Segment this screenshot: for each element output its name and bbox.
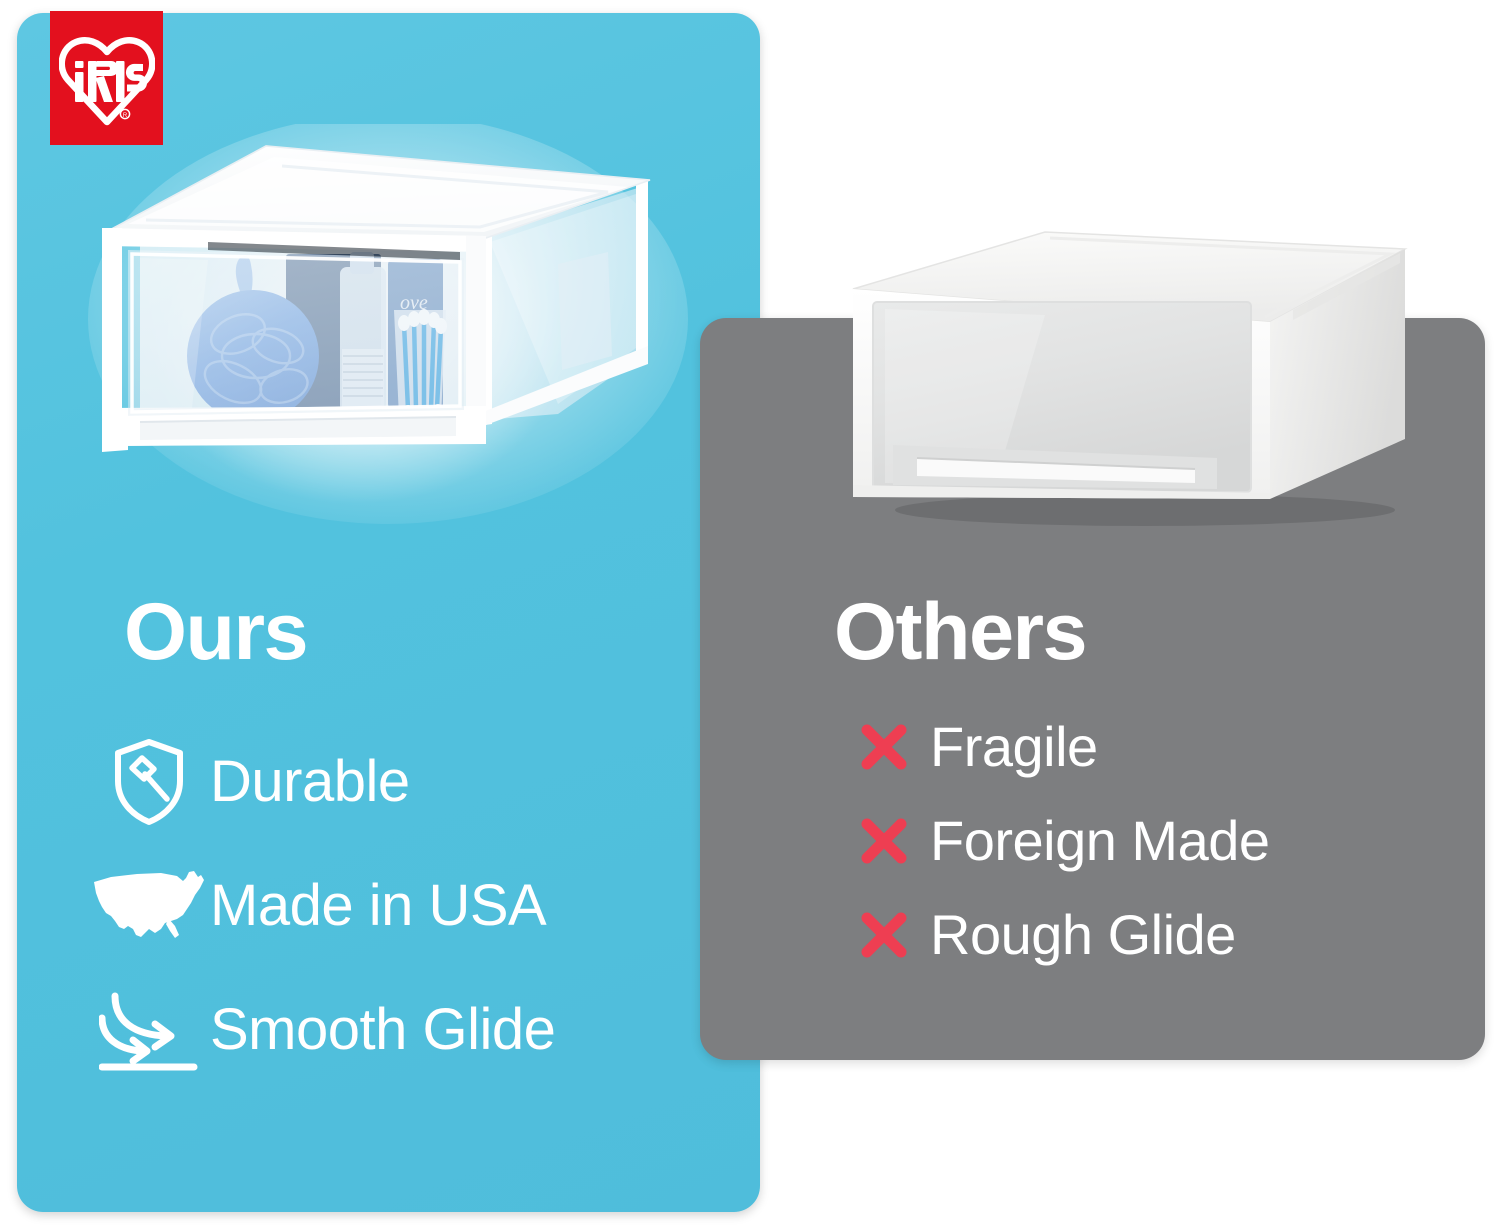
ours-product-image: ove (88, 124, 688, 554)
others-heading: Others (834, 592, 1086, 673)
smooth-glide-arrow-icon (88, 982, 210, 1078)
red-x-icon (838, 712, 930, 782)
feature-row-fragile: Fragile (838, 700, 1438, 794)
others-product-image (845, 227, 1415, 527)
feature-label: Foreign Made (930, 813, 1270, 869)
feature-label: Smooth Glide (210, 1001, 555, 1059)
red-x-icon (838, 900, 930, 970)
ours-heading: Ours (124, 592, 307, 673)
feature-row-rough-glide: Rough Glide (838, 888, 1438, 982)
iris-heart-logo: R (59, 24, 155, 132)
feature-label: Rough Glide (930, 907, 1236, 963)
iris-logo: R (50, 11, 163, 145)
feature-row-smooth-glide: Smooth Glide (88, 968, 708, 1092)
usa-map-icon (88, 858, 210, 954)
red-x-icon (838, 806, 930, 876)
others-feature-list: Fragile Foreign Made Rough Glide (838, 700, 1438, 982)
feature-label: Durable (210, 753, 410, 811)
feature-row-made-in-usa: Made in USA (88, 844, 708, 968)
svg-text:R: R (122, 113, 127, 119)
ours-feature-list: Durable Made in USA (88, 720, 708, 1092)
feature-label: Fragile (930, 719, 1098, 775)
infographic-canvas: ove (0, 0, 1500, 1232)
feature-label: Made in USA (210, 877, 546, 935)
shield-hammer-icon (88, 734, 210, 830)
feature-row-durable: Durable (88, 720, 708, 844)
feature-row-foreign-made: Foreign Made (838, 794, 1438, 888)
